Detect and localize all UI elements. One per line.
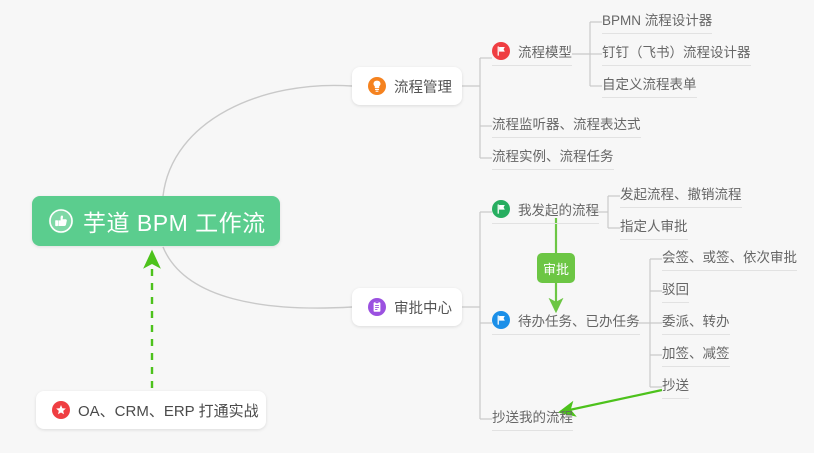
branch-node-label: 审批中心 [394, 297, 452, 318]
star-icon [52, 401, 70, 419]
thumbs-up-icon [48, 208, 74, 234]
leaf-todo-done-tasks[interactable]: 待办任务、已办任务 [492, 310, 640, 335]
flag-icon [492, 200, 510, 218]
leaf-reject[interactable]: 驳回 [662, 278, 689, 303]
integration-node-label: OA、CRM、ERP 打通实战 [78, 400, 259, 421]
leaf-label: 加签、减签 [662, 342, 730, 362]
leaf-cc-my-processes[interactable]: 抄送我的流程 [492, 406, 573, 431]
connector-root-to-process-mgmt [163, 85, 352, 196]
connector-root-to-approval-center [163, 247, 352, 308]
arrow-carbon-copy-to-cc-my-process [560, 390, 662, 412]
approve-annotation-badge: 审批 [537, 253, 575, 283]
leaf-label: 发起流程、撤销流程 [620, 183, 742, 203]
lightbulb-icon [368, 77, 386, 95]
leaf-label: 流程模型 [518, 41, 572, 61]
leaf-process-model[interactable]: 流程模型 [492, 41, 572, 66]
flag-icon [492, 42, 510, 60]
branch-node-process-management[interactable]: 流程管理 [352, 67, 462, 105]
root-node-label: 芋道 BPM 工作流 [83, 204, 266, 238]
approve-badge-label: 审批 [543, 259, 569, 278]
leaf-carbon-copy[interactable]: 抄送 [662, 374, 689, 399]
leaf-label: 流程实例、流程任务 [492, 145, 614, 165]
leaf-label: 会签、或签、依次审批 [662, 246, 797, 266]
leaf-countersign-or-sign-sequential[interactable]: 会签、或签、依次审批 [662, 246, 797, 271]
flag-icon [492, 311, 510, 329]
leaf-label: BPMN 流程设计器 [602, 9, 712, 29]
root-node[interactable]: 芋道 BPM 工作流 [32, 196, 280, 246]
leaf-dingtalk-feishu-designer[interactable]: 钉钉（飞书）流程设计器 [602, 41, 751, 66]
branch-node-label: 流程管理 [394, 76, 452, 97]
leaf-label: 抄送 [662, 374, 689, 394]
leaf-label: 自定义流程表单 [602, 73, 697, 93]
integration-node[interactable]: OA、CRM、ERP 打通实战 [36, 391, 266, 429]
leaf-add-remove-sign[interactable]: 加签、减签 [662, 342, 730, 367]
leaf-bpmn-designer[interactable]: BPMN 流程设计器 [602, 9, 712, 34]
leaf-designated-approver[interactable]: 指定人审批 [620, 215, 688, 240]
leaf-initiate-cancel-process[interactable]: 发起流程、撤销流程 [620, 183, 742, 208]
leaf-custom-process-form[interactable]: 自定义流程表单 [602, 73, 697, 98]
leaf-label: 抄送我的流程 [492, 406, 573, 426]
leaf-label: 钉钉（飞书）流程设计器 [602, 41, 751, 61]
leaf-process-instance-task[interactable]: 流程实例、流程任务 [492, 145, 614, 170]
leaf-label: 待办任务、已办任务 [518, 310, 640, 330]
branch-node-approval-center[interactable]: 审批中心 [352, 288, 462, 326]
mindmap-canvas: 芋道 BPM 工作流 流程管理 流程模型 流程监听器、流程表达式 流程实例、流 [0, 0, 814, 453]
clipboard-icon [368, 298, 386, 316]
leaf-label: 流程监听器、流程表达式 [492, 113, 641, 133]
leaf-label: 我发起的流程 [518, 199, 599, 219]
leaf-process-listener-expression[interactable]: 流程监听器、流程表达式 [492, 113, 641, 138]
leaf-label: 指定人审批 [620, 215, 688, 235]
leaf-my-started-processes[interactable]: 我发起的流程 [492, 199, 599, 224]
leaf-label: 委派、转办 [662, 310, 730, 330]
leaf-label: 驳回 [662, 278, 689, 298]
leaf-delegate-transfer[interactable]: 委派、转办 [662, 310, 730, 335]
